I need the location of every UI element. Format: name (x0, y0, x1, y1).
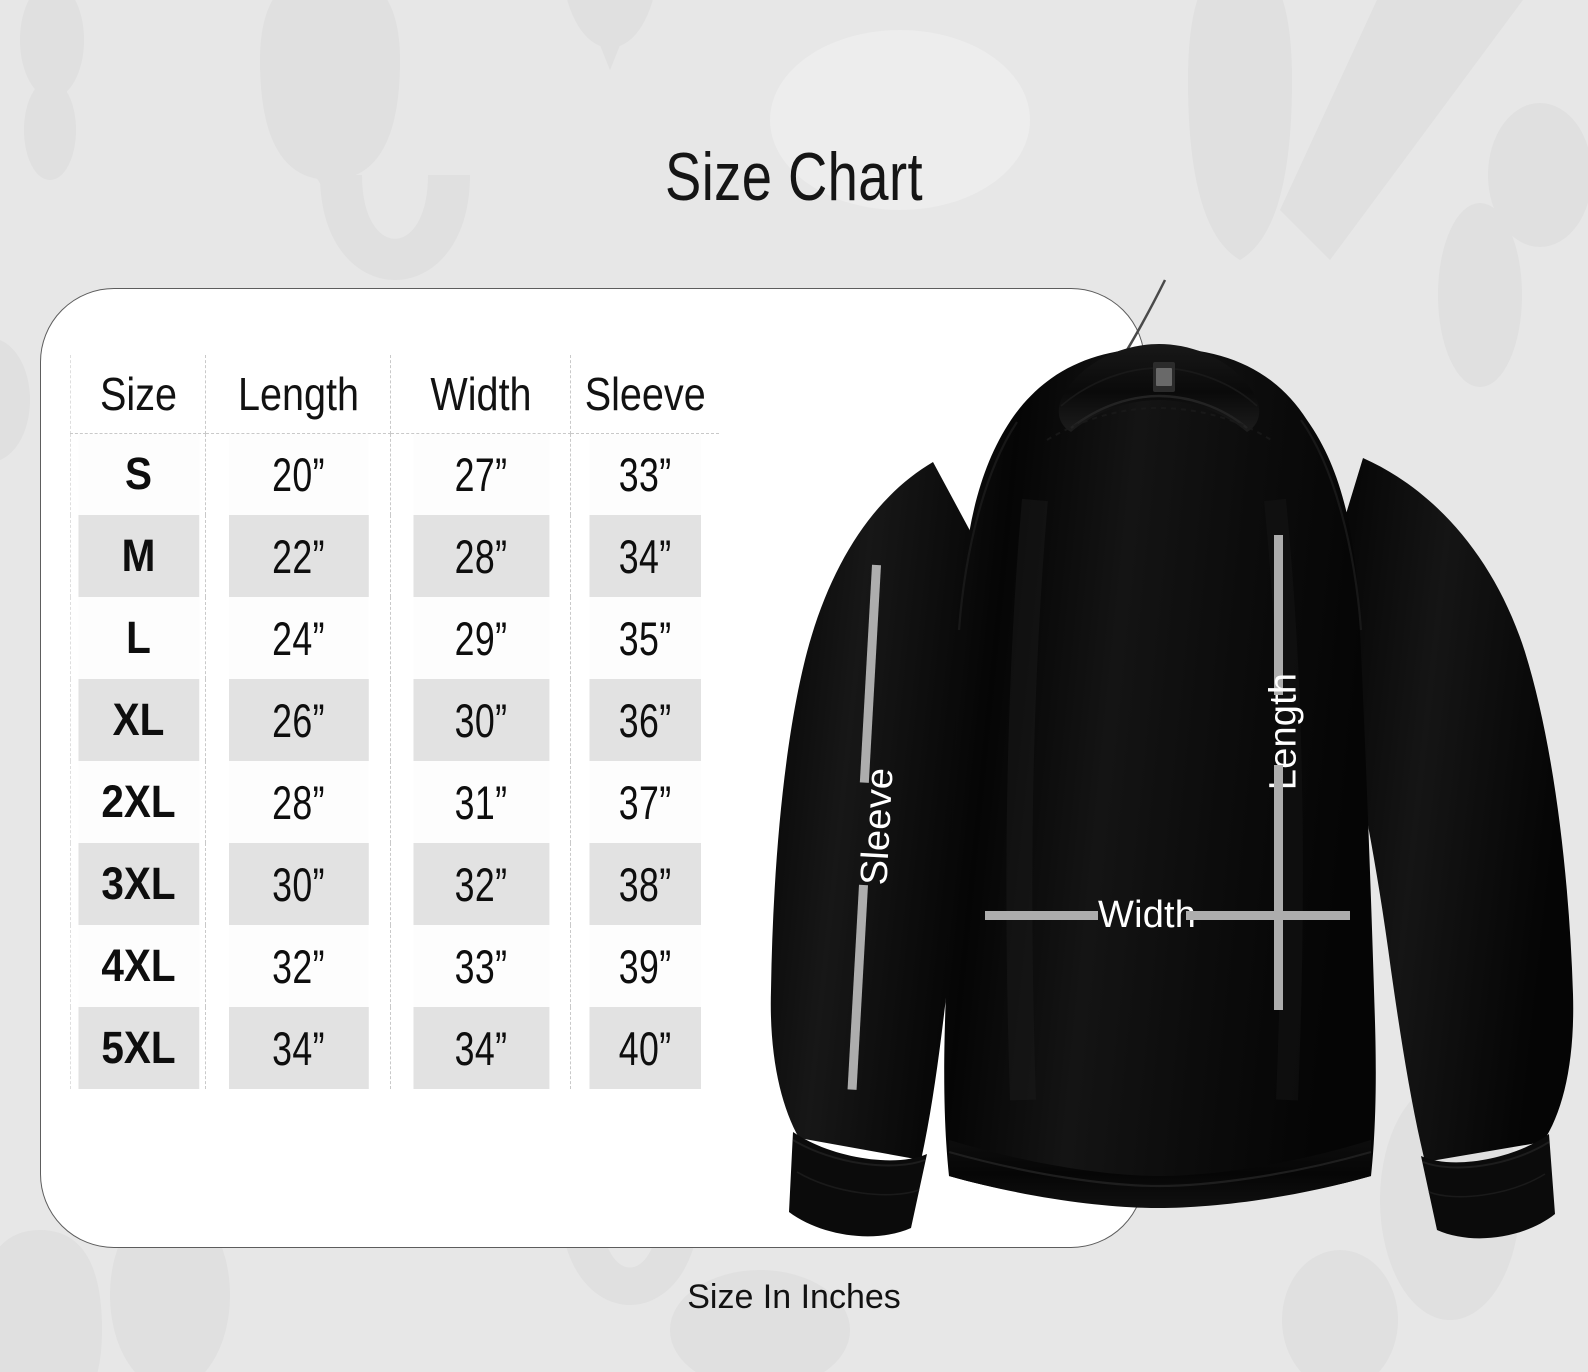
table-row: 3XL 30” 32” 38” (71, 843, 719, 925)
cell-sleeve: 36” (588, 679, 700, 761)
column-header-width: Width (403, 355, 558, 433)
column-header-length: Length (218, 355, 377, 433)
cell-length: 28” (228, 761, 369, 843)
table-row: 5XL 34” 34” 40” (71, 1007, 719, 1089)
cell-width: 32” (412, 843, 549, 925)
cell-size: 4XL (77, 925, 199, 1007)
cell-length: 32” (228, 925, 369, 1007)
cell-width: 33” (412, 925, 549, 1007)
cell-size: M (77, 515, 199, 597)
column-header-size: Size (80, 355, 196, 433)
cell-size: 2XL (77, 761, 199, 843)
table-row: XL 26” 30” 36” (71, 679, 719, 761)
table-row: L 24” 29” 35” (71, 597, 719, 679)
cell-sleeve: 40” (588, 1007, 700, 1089)
cell-width: 31” (412, 761, 549, 843)
cell-sleeve: 38” (588, 843, 700, 925)
cell-length: 34” (228, 1007, 369, 1089)
cell-sleeve: 39” (588, 925, 700, 1007)
table-header-row: Size Length Width Sleeve (71, 355, 719, 433)
cell-width: 27” (412, 433, 549, 515)
size-table-container: Size Length Width Sleeve S 20” 27” 33” M… (70, 355, 718, 1089)
column-header-sleeve: Sleeve (581, 355, 708, 433)
cell-width: 30” (412, 679, 549, 761)
cell-length: 26” (228, 679, 369, 761)
cell-size: 3XL (77, 843, 199, 925)
table-row: S 20” 27” 33” (71, 433, 719, 515)
cell-size: L (77, 597, 199, 679)
size-table: Size Length Width Sleeve S 20” 27” 33” M… (70, 355, 719, 1089)
cell-length: 20” (228, 433, 369, 515)
cell-sleeve: 33” (588, 433, 700, 515)
cell-sleeve: 34” (588, 515, 700, 597)
page-title: Size Chart (159, 138, 1429, 216)
cell-size: S (77, 433, 199, 515)
units-caption: Size In Inches (0, 1278, 1588, 1317)
cell-size: 5XL (77, 1007, 199, 1089)
cell-sleeve: 35” (588, 597, 700, 679)
cell-size: XL (77, 679, 199, 761)
table-row: 2XL 28” 31” 37” (71, 761, 719, 843)
table-row: 4XL 32” 33” 39” (71, 925, 719, 1007)
cell-width: 29” (412, 597, 549, 679)
cell-width: 28” (412, 515, 549, 597)
cell-length: 22” (228, 515, 369, 597)
cell-width: 34” (412, 1007, 549, 1089)
cell-length: 30” (228, 843, 369, 925)
cell-sleeve: 37” (588, 761, 700, 843)
table-row: M 22” 28” 34” (71, 515, 719, 597)
cell-length: 24” (228, 597, 369, 679)
